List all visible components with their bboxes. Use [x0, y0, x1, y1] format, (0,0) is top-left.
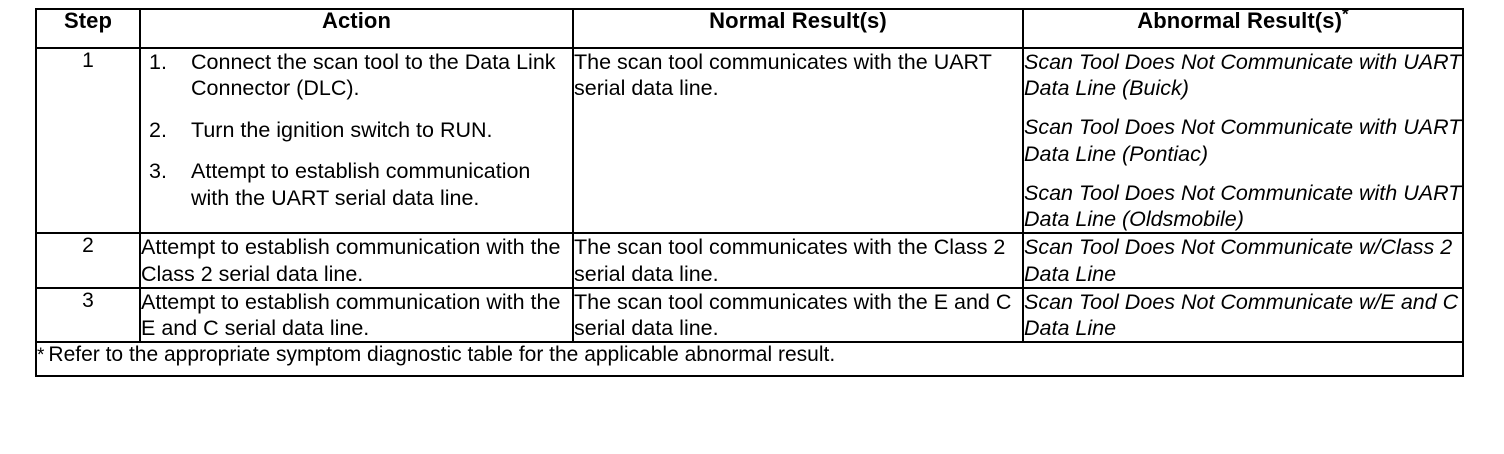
list-item: 2. Turn the ignition switch to RUN. — [141, 117, 572, 143]
abnormal-result-text: Scan Tool Does Not Communicate w/Class 2… — [1024, 234, 1462, 286]
footnote-row: *Refer to the appropriate symptom diagno… — [36, 342, 1463, 376]
column-header-normal-result: Normal Result(s) — [573, 9, 1023, 48]
table-row: 1 1. Connect the scan tool to the Data L… — [36, 48, 1463, 233]
page-root: Step Action Normal Result(s) Abnormal Re… — [0, 0, 1504, 454]
action-text: Attempt to establish communication with … — [141, 289, 572, 341]
table-body: 1 1. Connect the scan tool to the Data L… — [36, 48, 1463, 376]
column-header-abnormal-result: Abnormal Result(s)* — [1023, 9, 1463, 48]
list-item-text: Connect the scan tool to the Data Link C… — [191, 50, 556, 100]
step-number: 3 — [82, 289, 94, 312]
list-item: Scan Tool Does Not Communicate with UART… — [1024, 114, 1462, 166]
action-cell: Attempt to establish communication with … — [140, 233, 573, 287]
footnote-star-icon: * — [37, 345, 48, 366]
abnormal-result-list: Scan Tool Does Not Communicate with UART… — [1024, 49, 1462, 232]
column-header-step: Step — [36, 9, 140, 48]
footnote-marker-icon: * — [1342, 5, 1349, 24]
normal-result-text: The scan tool communicates with the Clas… — [574, 234, 1022, 286]
footnote-cell: *Refer to the appropriate symptom diagno… — [36, 342, 1463, 376]
list-item-text: Turn the ignition switch to RUN. — [191, 118, 493, 142]
step-number-cell: 2 — [36, 233, 140, 287]
column-header-normal-result-label: Normal Result(s) — [574, 10, 1022, 32]
list-item-number: 3. — [149, 158, 183, 184]
action-step-list: 1. Connect the scan tool to the Data Lin… — [141, 49, 572, 211]
column-header-step-label: Step — [37, 10, 139, 32]
normal-result-cell: The scan tool communicates with the UART… — [573, 48, 1023, 233]
normal-result-cell: The scan tool communicates with the Clas… — [573, 233, 1023, 287]
action-cell: Attempt to establish communication with … — [140, 288, 573, 342]
abnormal-result-text: Scan Tool Does Not Communicate w/E and C… — [1024, 289, 1462, 341]
list-item: 1. Connect the scan tool to the Data Lin… — [141, 49, 572, 102]
table-row: 2 Attempt to establish communication wit… — [36, 233, 1463, 287]
table-header: Step Action Normal Result(s) Abnormal Re… — [36, 9, 1463, 48]
list-item: Scan Tool Does Not Communicate with UART… — [1024, 180, 1462, 232]
action-text: Attempt to establish communication with … — [141, 234, 572, 286]
normal-result-cell: The scan tool communicates with the E an… — [573, 288, 1023, 342]
abnormal-result-cell: Scan Tool Does Not Communicate w/Class 2… — [1023, 233, 1463, 287]
list-item-number: 2. — [149, 117, 183, 143]
list-item: Scan Tool Does Not Communicate with UART… — [1024, 49, 1462, 101]
diagnostic-procedure-table: Step Action Normal Result(s) Abnormal Re… — [35, 8, 1464, 377]
column-header-abnormal-result-wrapper: Abnormal Result(s)* — [1024, 10, 1462, 32]
normal-result-text: The scan tool communicates with the E an… — [574, 289, 1022, 341]
list-item-text: Attempt to establish communication with … — [191, 159, 530, 209]
column-header-abnormal-result-label: Abnormal Result(s) — [1137, 8, 1342, 33]
column-header-action-label: Action — [141, 10, 572, 32]
column-header-action: Action — [140, 9, 573, 48]
step-number: 2 — [82, 234, 94, 257]
abnormal-result-cell: Scan Tool Does Not Communicate with UART… — [1023, 48, 1463, 233]
footnote-text: Refer to the appropriate symptom diagnos… — [48, 343, 835, 366]
abnormal-result-cell: Scan Tool Does Not Communicate w/E and C… — [1023, 288, 1463, 342]
action-cell: 1. Connect the scan tool to the Data Lin… — [140, 48, 573, 233]
list-item: 3. Attempt to establish communication wi… — [141, 158, 572, 211]
step-number-cell: 3 — [36, 288, 140, 342]
footnote-wrapper: *Refer to the appropriate symptom diagno… — [37, 343, 1462, 367]
step-number: 1 — [82, 49, 94, 72]
step-number-cell: 1 — [36, 48, 140, 233]
list-item-number: 1. — [149, 49, 183, 75]
header-row: Step Action Normal Result(s) Abnormal Re… — [36, 9, 1463, 48]
table-row: 3 Attempt to establish communication wit… — [36, 288, 1463, 342]
normal-result-text: The scan tool communicates with the UART… — [574, 49, 1022, 101]
